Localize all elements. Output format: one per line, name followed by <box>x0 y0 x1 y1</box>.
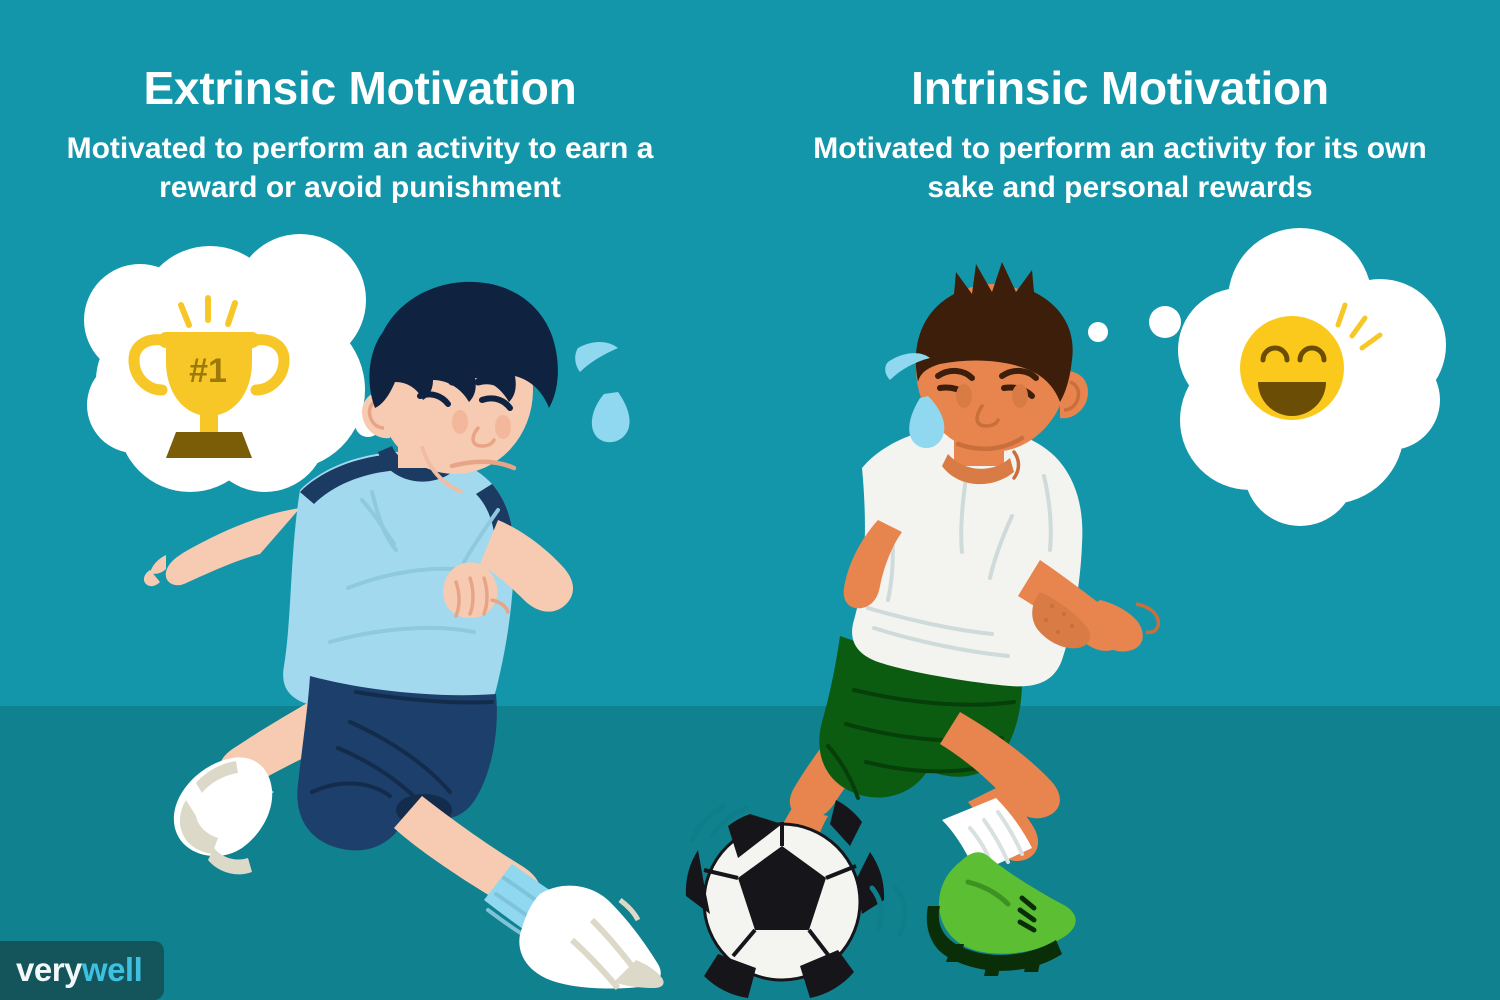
logo-text-very: very <box>16 951 82 988</box>
column-intrinsic: Intrinsic Motivation Motivated to perfor… <box>775 0 1465 207</box>
subtitle-intrinsic: Motivated to perform an activity for its… <box>775 130 1465 207</box>
background-ground <box>0 706 1500 1000</box>
page-title-intrinsic: Intrinsic Motivation <box>775 64 1465 112</box>
column-extrinsic: Extrinsic Motivation Motivated to perfor… <box>15 0 705 207</box>
infographic-canvas: Extrinsic Motivation Motivated to perfor… <box>0 0 1500 1000</box>
subtitle-extrinsic: Motivated to perform an activity to earn… <box>15 130 705 207</box>
verywell-logo[interactable]: verywell <box>0 941 164 1000</box>
logo-text-well: well <box>82 951 142 988</box>
page-title-extrinsic: Extrinsic Motivation <box>15 64 705 112</box>
